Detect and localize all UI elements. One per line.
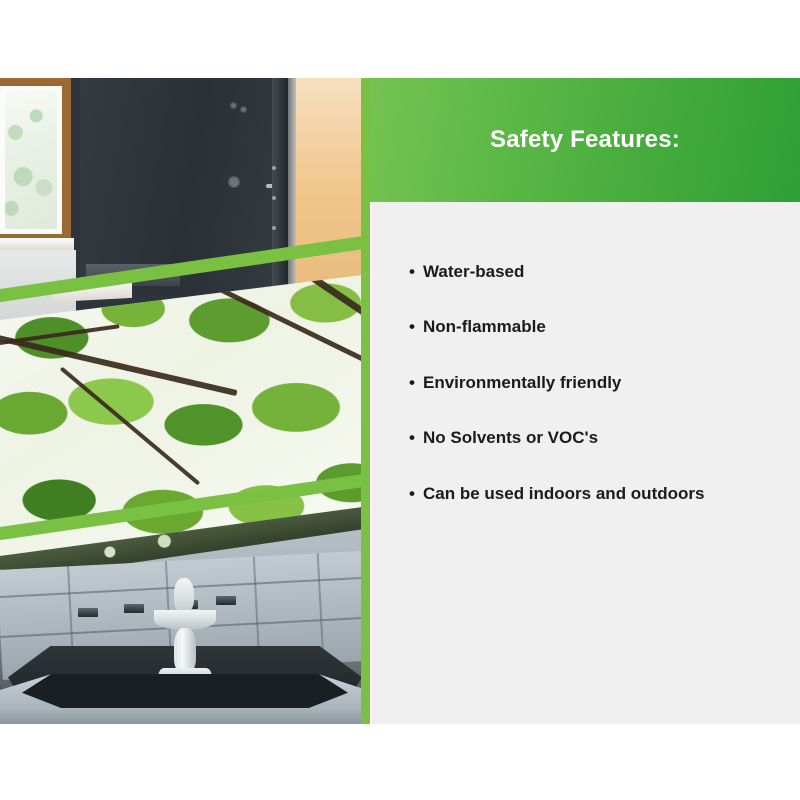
pool-water-surface (22, 674, 348, 708)
bullet-icon: • (409, 484, 423, 504)
photo-green-edge (361, 506, 370, 724)
window-icon (0, 86, 62, 234)
tree-branch (0, 334, 237, 396)
door-edge (272, 78, 288, 298)
feature-list-item: • Non-flammable (409, 317, 789, 337)
slide-content: Safety Features: • Water-based • Non-fla… (0, 78, 800, 724)
door-strike-screw (272, 196, 276, 200)
door-strike-screw (272, 226, 276, 230)
feature-list-item: • Environmentally friendly (409, 373, 789, 393)
feature-list-item: • No Solvents or VOC's (409, 428, 789, 448)
fountain-stem (174, 628, 196, 672)
water-spout-icon (78, 608, 98, 617)
feature-list-item: • Water-based (409, 262, 789, 282)
slide-canvas: Safety Features: • Water-based • Non-fla… (0, 0, 800, 800)
bullet-icon: • (409, 262, 423, 282)
door-lock-icon (230, 102, 237, 109)
feature-label: Can be used indoors and outdoors (423, 484, 704, 504)
door-cylinder-icon (228, 176, 240, 188)
door-lock-icon (240, 106, 247, 113)
feature-label: Non-flammable (423, 317, 546, 337)
tree-branch (60, 367, 200, 486)
cherub-figure-icon (174, 578, 194, 612)
bullet-icon: • (409, 373, 423, 393)
water-spout-icon (216, 596, 236, 605)
panel-body: • Water-based • Non-flammable • Environm… (372, 202, 800, 724)
left-photo-collage (0, 78, 370, 724)
bullet-icon: • (409, 428, 423, 448)
water-spout-icon (124, 604, 144, 613)
feature-label: No Solvents or VOC's (423, 428, 598, 448)
feature-list-item: • Can be used indoors and outdoors (409, 484, 789, 504)
panel-title: Safety Features: (490, 126, 680, 154)
fountain-bowl (154, 610, 216, 630)
feature-label: Water-based (423, 262, 524, 282)
safety-features-panel: Safety Features: • Water-based • Non-fla… (370, 78, 800, 724)
bullet-icon: • (409, 317, 423, 337)
panel-header: Safety Features: (370, 78, 800, 202)
door-strike-screw (272, 166, 276, 170)
feature-label: Environmentally friendly (423, 373, 621, 393)
feature-list: • Water-based • Non-flammable • Environm… (409, 262, 789, 539)
